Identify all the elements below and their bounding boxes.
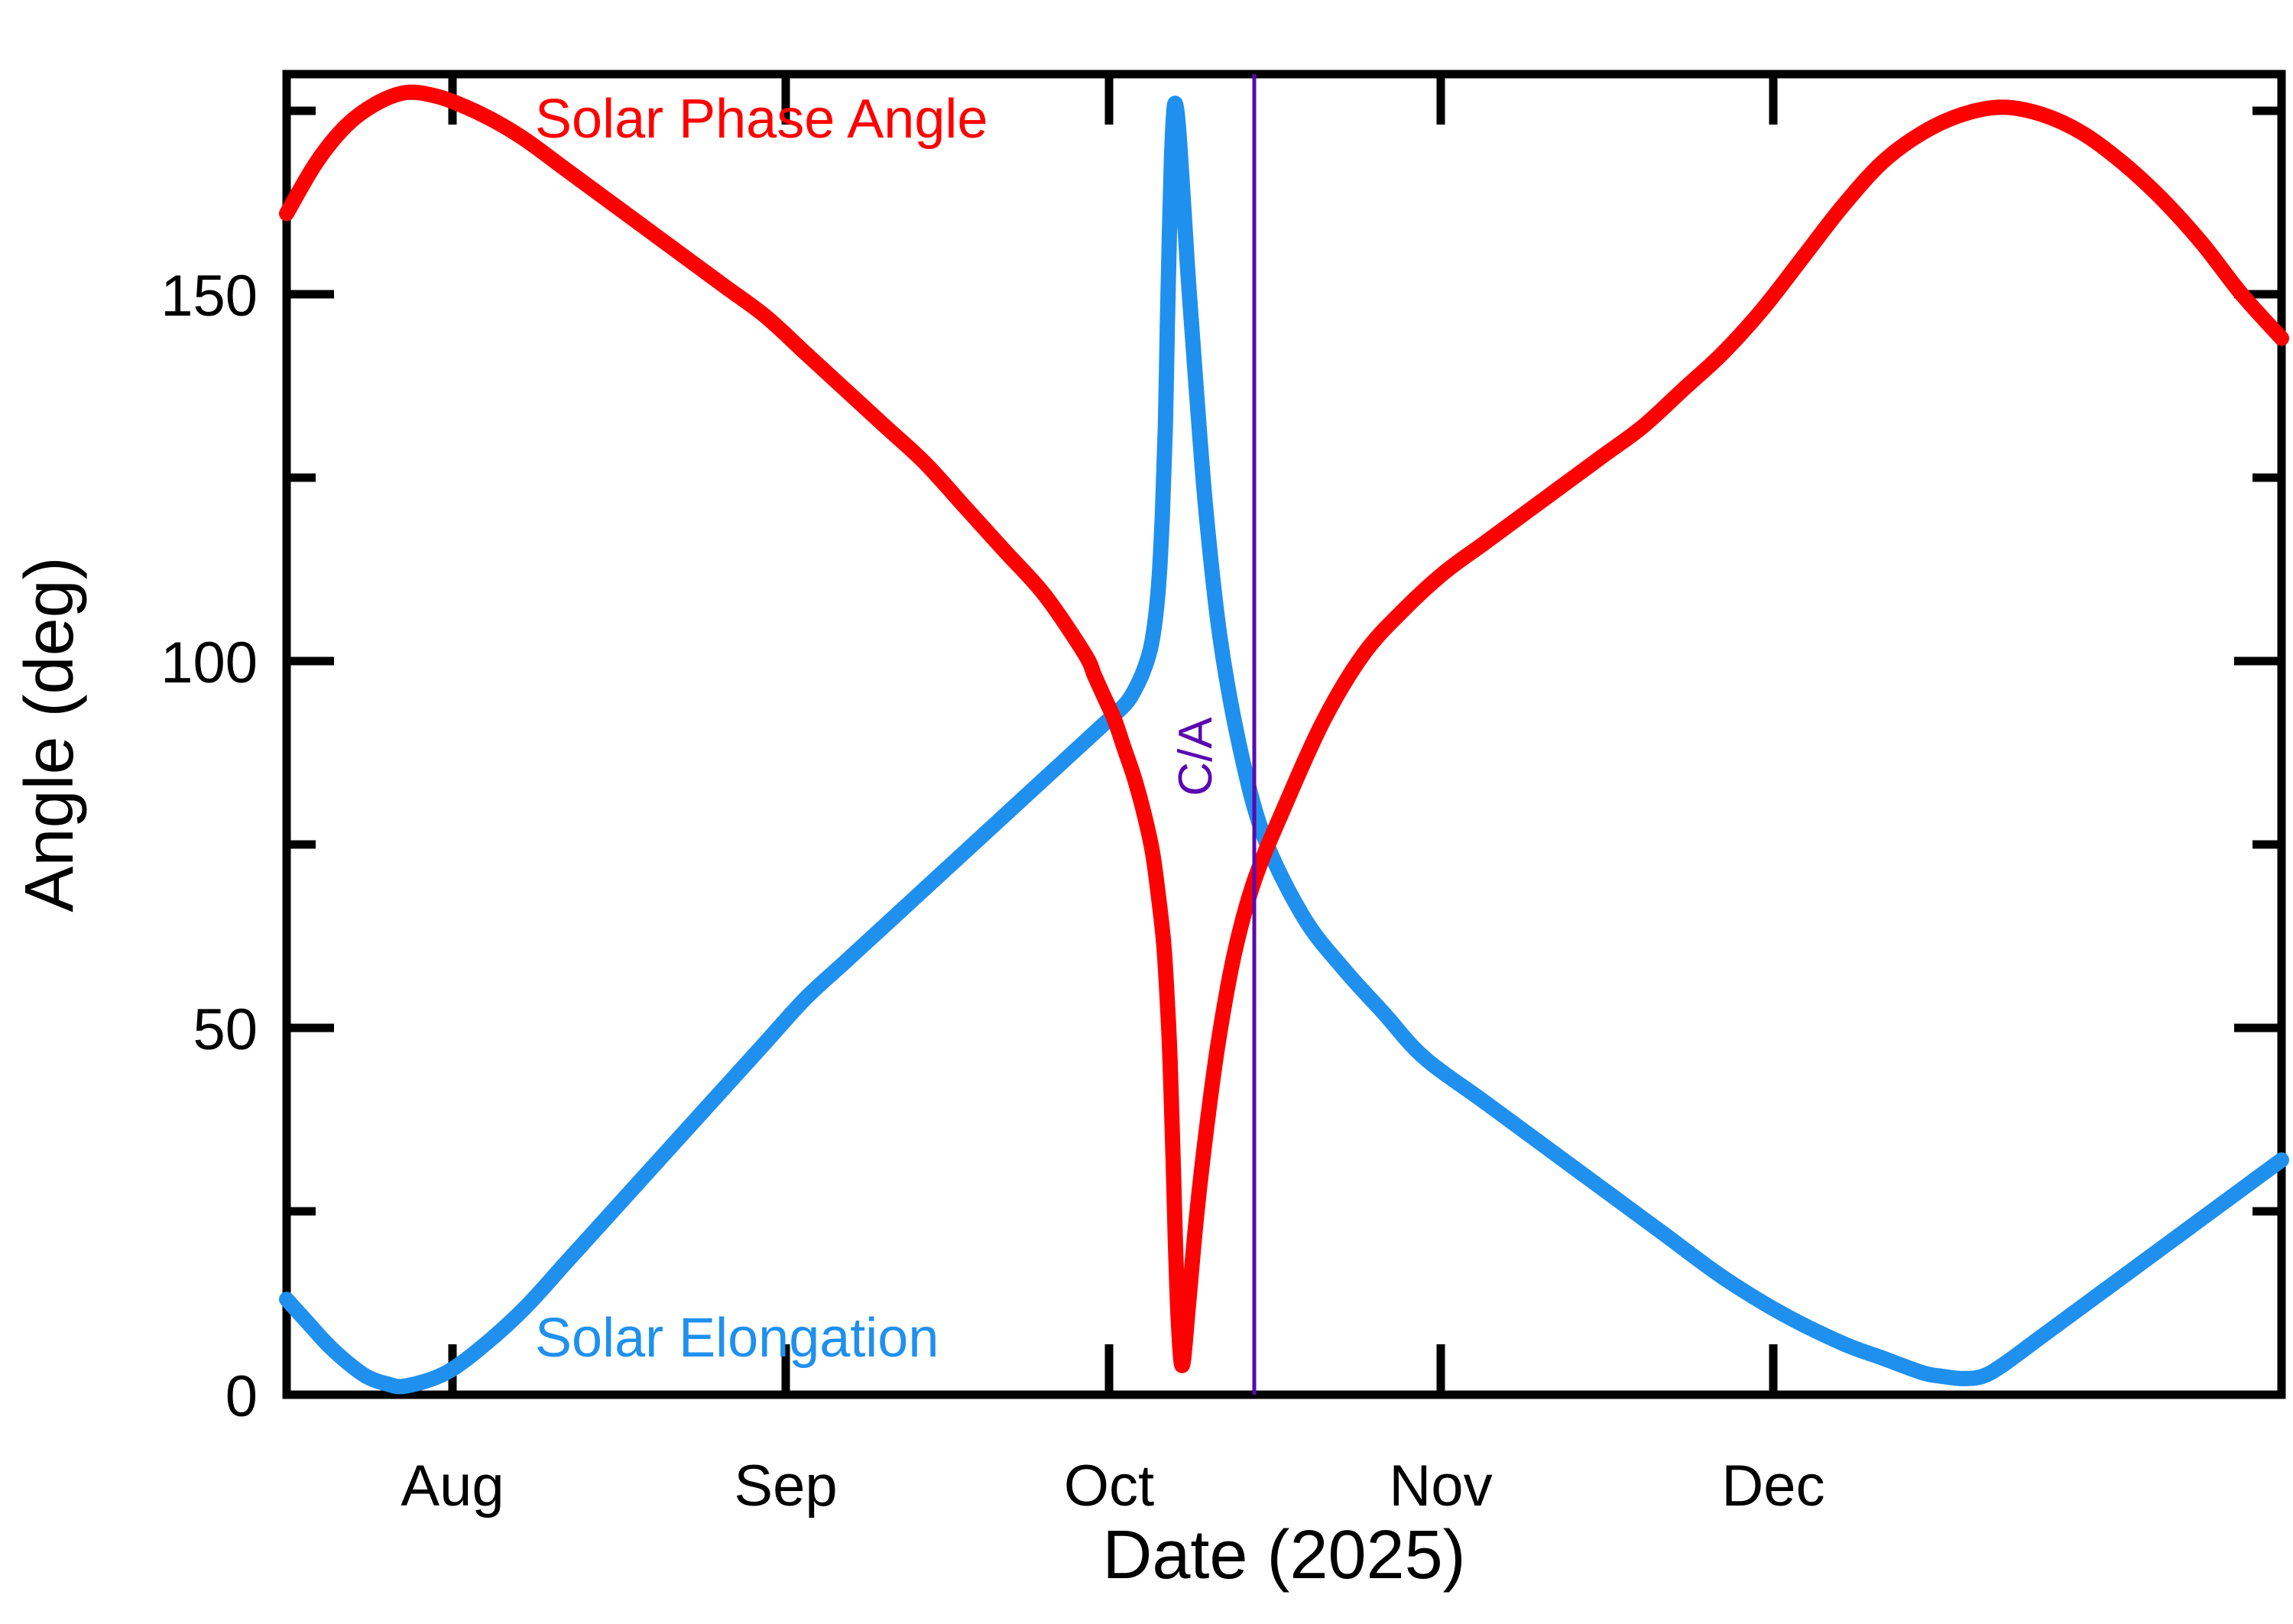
series-label-solar-elongation: Solar Elongation bbox=[535, 1308, 939, 1369]
angle-vs-date-chart: 050100150 AugSepOctNovDec Angle (deg) Da… bbox=[0, 0, 2293, 1624]
close-approach-label: C/A bbox=[1169, 717, 1222, 796]
y-axis-title: Angle (deg) bbox=[11, 556, 88, 912]
x-tick-label: Sep bbox=[734, 1454, 837, 1519]
x-tick-label: Dec bbox=[1721, 1454, 1824, 1519]
x-tick-label: Oct bbox=[1064, 1454, 1154, 1519]
chart-root: 050100150 AugSepOctNovDec Angle (deg) Da… bbox=[0, 0, 2293, 1624]
series-label-solar-phase-angle: Solar Phase Angle bbox=[535, 89, 988, 150]
y-tick-label: 150 bbox=[161, 264, 258, 329]
x-tick-label: Nov bbox=[1389, 1454, 1492, 1519]
x-tick-label: Aug bbox=[401, 1454, 504, 1519]
y-tick-label: 50 bbox=[193, 997, 258, 1062]
y-tick-label: 100 bbox=[161, 630, 258, 695]
x-axis-title: Date (2025) bbox=[1102, 1517, 1465, 1593]
y-tick-label: 0 bbox=[225, 1364, 258, 1429]
